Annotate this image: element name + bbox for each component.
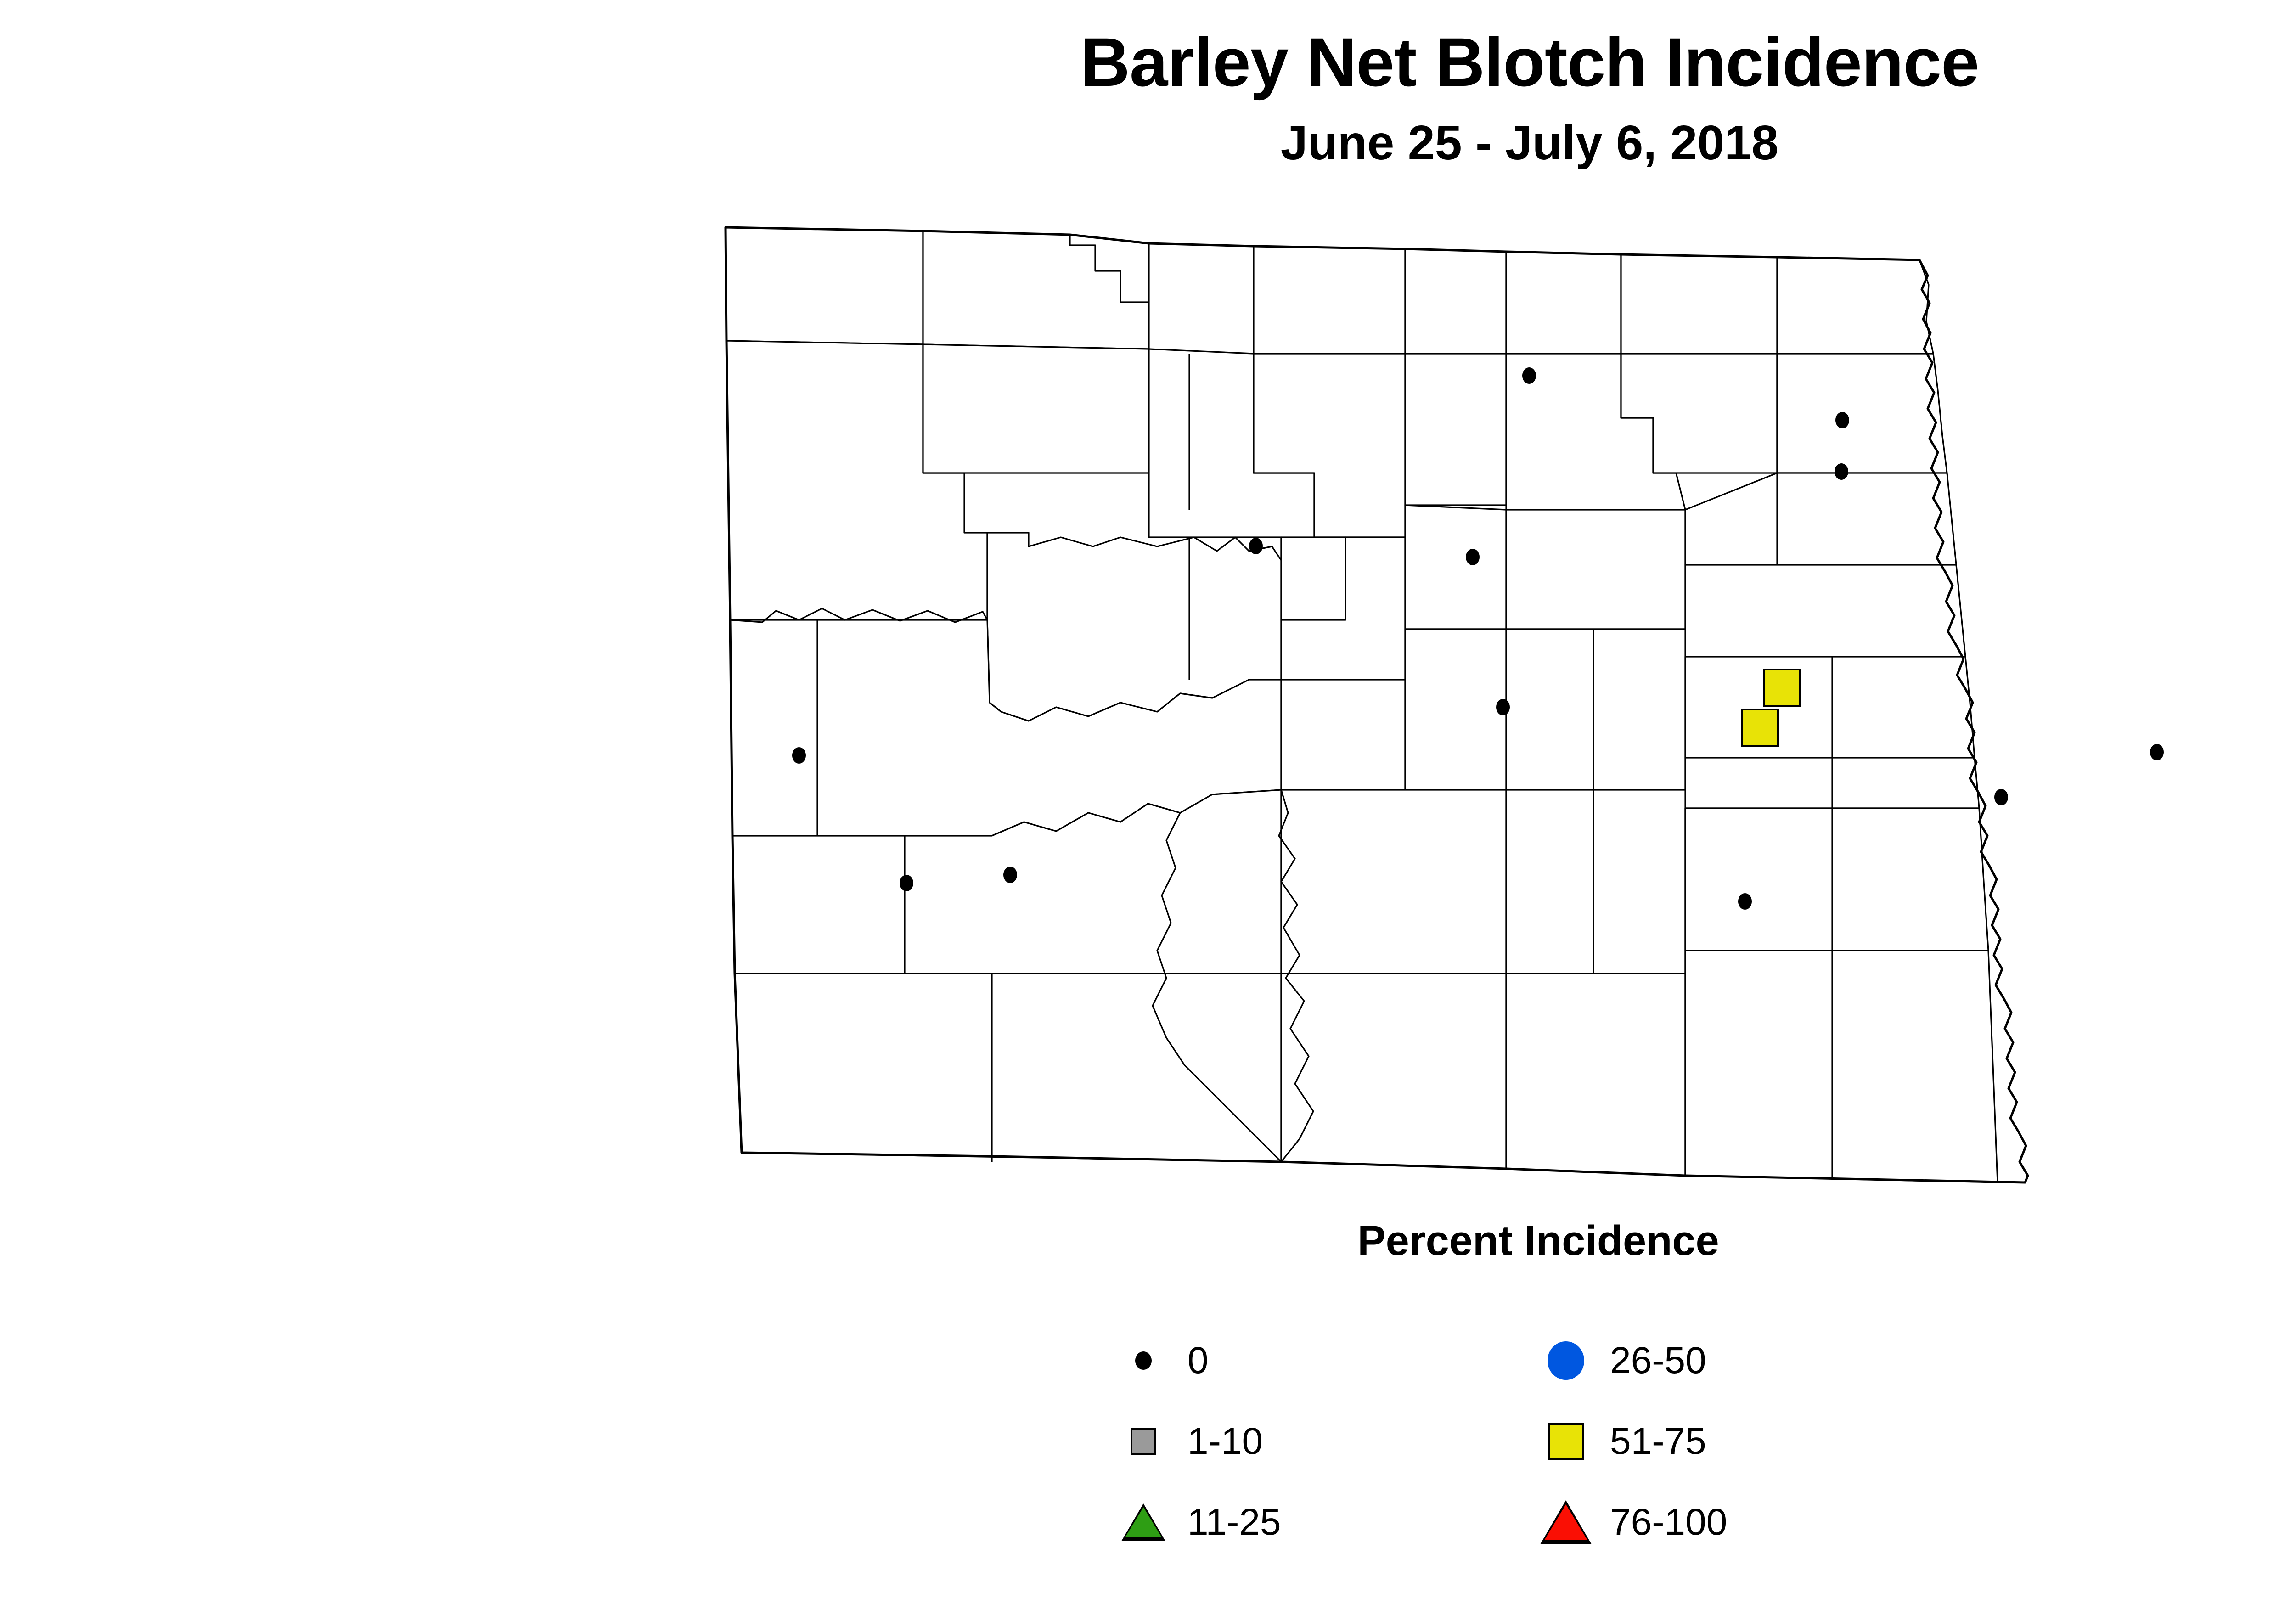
map-data-point	[1835, 463, 1848, 480]
legend-symbol-triangle-icon	[1525, 1500, 1607, 1544]
map-marker-circle-icon	[1835, 463, 1848, 480]
legend-label-11-25: 11-25	[1185, 1503, 1281, 1541]
map-marker-circle-icon	[900, 875, 913, 891]
map-marker-circle-icon	[1003, 867, 1017, 883]
legend-item-51-75[interactable]: 51-75	[1525, 1401, 1947, 1482]
map-data-point	[1522, 367, 1536, 384]
map-marker-circle-icon	[1738, 893, 1752, 910]
legend-symbol-circle-icon	[1525, 1341, 1607, 1380]
map-data-point	[792, 747, 806, 764]
legend-label-26-50: 26-50	[1607, 1342, 1706, 1379]
map-data-point	[2150, 744, 2164, 760]
map-marker-square-icon	[1741, 709, 1779, 747]
map-marker-circle-icon	[1522, 367, 1536, 384]
map-marker-circle-icon	[1994, 789, 2008, 805]
map-marker-circle-icon	[1496, 699, 1510, 715]
legend-column-left: 0 1-10 11-25	[1102, 1320, 1525, 1563]
map-marker-square-icon	[1763, 669, 1801, 707]
map-data-point	[1994, 789, 2008, 805]
legend-item-11-25[interactable]: 11-25	[1102, 1482, 1525, 1563]
map-marker-circle-icon	[792, 747, 806, 764]
legend-title: Percent Incidence	[1102, 1217, 1975, 1265]
map-data-point	[1763, 669, 1801, 707]
map-data-point	[1249, 538, 1263, 554]
map-data-point	[1466, 549, 1480, 565]
map-data-point	[1003, 867, 1017, 883]
legend-column-right: 26-50 51-75 76-100	[1525, 1320, 1947, 1563]
legend-item-76-100[interactable]: 76-100	[1525, 1482, 1947, 1563]
legend-symbol-square-icon	[1525, 1423, 1607, 1460]
legend-label-51-75: 51-75	[1607, 1423, 1706, 1460]
legend: Percent Incidence 0 1-10	[1102, 1217, 1975, 1563]
map-data-point	[1738, 893, 1752, 910]
map-data-point	[900, 875, 913, 891]
legend-columns: 0 1-10 11-25	[1102, 1320, 1975, 1563]
map-page: Barley Net Blotch Incidence June 25 - Ju…	[0, 0, 2296, 1610]
title-block: Barley Net Blotch Incidence June 25 - Ju…	[0, 28, 2296, 167]
legend-item-26-50[interactable]: 26-50	[1525, 1320, 1947, 1401]
page-title: Barley Net Blotch Incidence	[0, 28, 2296, 96]
legend-symbol-triangle-icon	[1102, 1503, 1185, 1541]
map-data-point	[1741, 709, 1779, 747]
legend-item-1-10[interactable]: 1-10	[1102, 1401, 1525, 1482]
map-marker-circle-icon	[1835, 412, 1849, 428]
map-data-point	[1835, 412, 1849, 428]
legend-label-1-10: 1-10	[1185, 1423, 1263, 1460]
page-subtitle: June 25 - July 6, 2018	[0, 118, 2296, 167]
legend-symbol-circle-icon	[1102, 1351, 1185, 1370]
map-marker-circle-icon	[1466, 549, 1480, 565]
legend-symbol-square-icon	[1102, 1428, 1185, 1455]
map-data-point	[1496, 699, 1510, 715]
map-marker-circle-icon	[1249, 538, 1263, 554]
county-boundaries	[726, 227, 1998, 1182]
map-marker-circle-icon	[2150, 744, 2164, 760]
legend-label-0: 0	[1185, 1342, 1209, 1379]
north-dakota-county-map	[707, 216, 2296, 1194]
legend-label-76-100: 76-100	[1607, 1503, 1727, 1541]
legend-item-0[interactable]: 0	[1102, 1320, 1525, 1401]
